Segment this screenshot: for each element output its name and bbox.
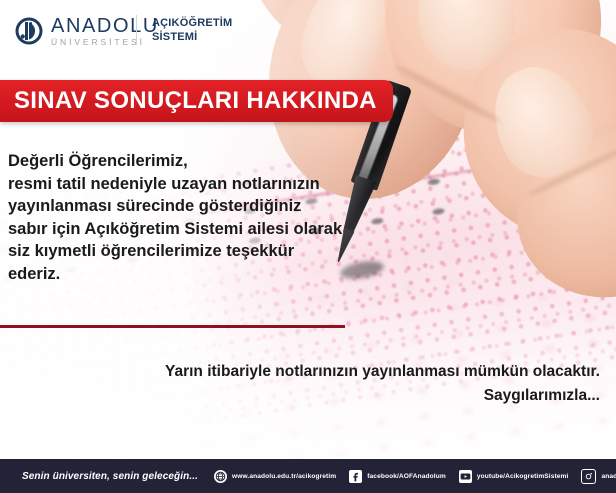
social-label-facebook: facebook/AOFAnadolum xyxy=(367,473,446,480)
message-line: siz kıymetli öğrencilerimize teşekkür xyxy=(8,240,368,263)
section-divider xyxy=(0,325,345,328)
sub-brand-line2: SİSTEMİ xyxy=(152,31,232,45)
social-label-website: www.anadolu.edu.tr/acikogretim xyxy=(232,473,336,480)
closing-line: Saygılarımızla... xyxy=(110,384,600,408)
social-label-youtube: youtube/AcikogretimSistemi xyxy=(477,473,569,480)
headline-text: SINAV SONUÇLARI HAKKINDA xyxy=(14,87,377,115)
message-line: ederiz. xyxy=(8,263,368,286)
message-line: resmi tatil nedeniyle uzayan notlarınızı… xyxy=(8,173,368,196)
headline-banner: SINAV SONUÇLARI HAKKINDA xyxy=(0,80,393,122)
footer-slogan: Senin üniversiten, senin geleceğin... xyxy=(22,471,198,482)
message-line: yayınlanması sürecinde gösterdiğiniz xyxy=(8,195,368,218)
brand-name: ANADOLU xyxy=(51,16,159,36)
globe-icon xyxy=(214,470,227,483)
header-divider xyxy=(136,15,137,45)
brand-subtitle: ÜNİVERSİTESİ xyxy=(51,38,159,47)
social-link-facebook[interactable]: facebook/AOFAnadolum xyxy=(349,470,446,483)
instagram-icon xyxy=(581,469,596,484)
university-logo: ANADOLU ÜNİVERSİTESİ xyxy=(14,16,159,47)
message-body: Değerli Öğrencilerimiz, resmi tatil nede… xyxy=(8,150,368,286)
sub-brand: AÇIKÖĞRETİM SİSTEMİ xyxy=(152,17,232,45)
youtube-icon xyxy=(459,470,472,483)
anadolu-university-emblem-icon xyxy=(14,16,44,46)
social-links: www.anadolu.edu.tr/acikogretim facebook/… xyxy=(214,469,616,484)
social-link-instagram[interactable]: anadoluuniv_acikogretimsistemi xyxy=(581,469,616,484)
sub-brand-line1: AÇIKÖĞRETİM xyxy=(152,17,232,31)
message-line: Değerli Öğrencilerimiz, xyxy=(8,150,368,173)
social-link-website[interactable]: www.anadolu.edu.tr/acikogretim xyxy=(214,470,336,483)
social-label-instagram: anadoluuniv_acikogretimsistemi xyxy=(601,473,616,480)
closing-line: Yarın itibariyle notlarınızın yayınlanma… xyxy=(110,360,600,384)
facebook-icon xyxy=(349,470,362,483)
closing-message: Yarın itibariyle notlarınızın yayınlanma… xyxy=(110,360,600,408)
poster-footer: Senin üniversiten, senin geleceğin... ww… xyxy=(0,459,616,493)
poster-header: ANADOLU ÜNİVERSİTESİ AÇIKÖĞRETİM SİSTEMİ xyxy=(0,0,616,62)
social-link-youtube[interactable]: youtube/AcikogretimSistemi xyxy=(459,470,569,483)
logo-wordmark: ANADOLU ÜNİVERSİTESİ xyxy=(51,16,159,47)
announcement-poster: ANADOLU ÜNİVERSİTESİ AÇIKÖĞRETİM SİSTEMİ… xyxy=(0,0,616,493)
message-line: sabır için Açıköğretim Sistemi ailesi ol… xyxy=(8,218,368,241)
